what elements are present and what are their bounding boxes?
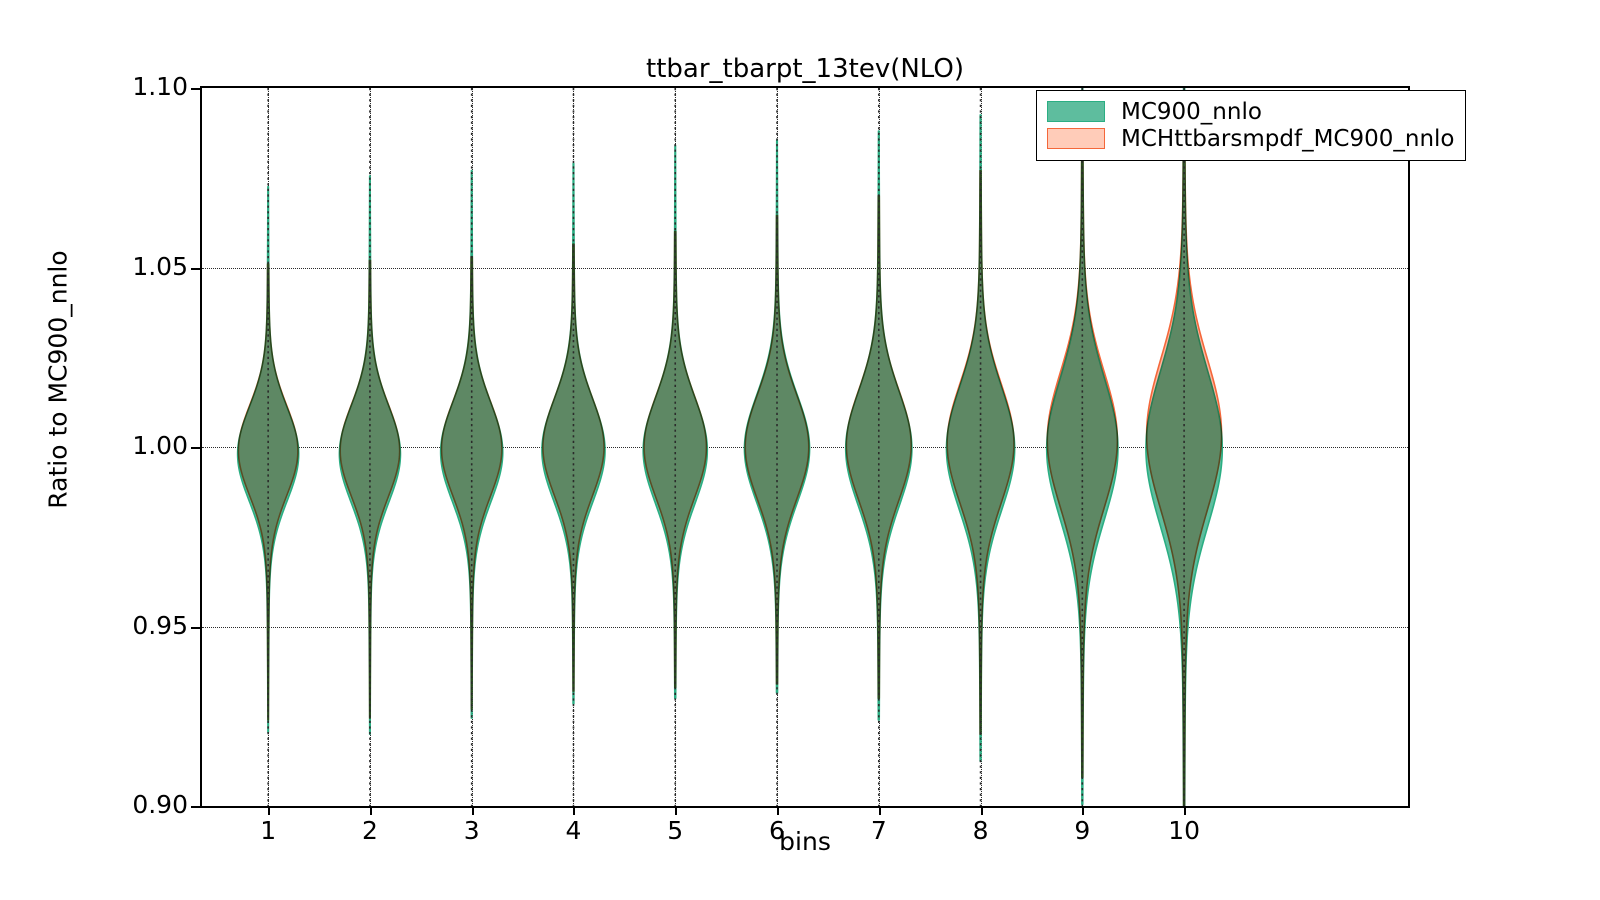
plot-area [200, 86, 1410, 808]
violin-plot-svg [202, 88, 1408, 806]
y-tick-label: 0.95 [132, 611, 188, 640]
y-tick-label: 1.00 [132, 431, 188, 460]
legend-item[interactable]: MC900_nnlo [1047, 98, 1455, 125]
y-tick-mark [191, 447, 200, 449]
legend-swatch-mchttbarsmpdf-mc900-nnlo [1047, 128, 1105, 149]
x-tick-mark [370, 806, 372, 815]
violin-layer [202, 88, 1408, 806]
y-tick-label: 1.05 [132, 252, 188, 281]
y-tick-label: 1.10 [132, 72, 188, 101]
legend-label-mc900-nnlo: MC900_nnlo [1121, 99, 1262, 125]
legend-swatch-mc900-nnlo [1047, 101, 1105, 122]
violin-series-mchttbarsmpdf-mc900-nnlo [238, 95, 1221, 806]
x-tick-mark [1184, 806, 1186, 815]
legend-item[interactable]: MCHttbarsmpdf_MC900_nnlo [1047, 125, 1455, 152]
x-tick-mark [573, 806, 575, 815]
y-tick-mark [191, 627, 200, 629]
x-tick-mark [1082, 806, 1084, 815]
x-tick-mark [472, 806, 474, 815]
x-tick-mark [675, 806, 677, 815]
chart-figure: ttbar_tbarpt_13tev(NLO) 0.900.951.001.05… [0, 0, 1600, 900]
x-tick-mark [981, 806, 983, 815]
y-axis-label: Ratio to MC900_nnlo [44, 60, 73, 700]
y-tick-mark [191, 88, 200, 90]
x-tick-mark [777, 806, 779, 815]
y-tick-label: 0.90 [132, 790, 188, 819]
x-tick-mark [879, 806, 881, 815]
x-axis-label: bins [200, 827, 1410, 856]
legend: MC900_nnlo MCHttbarsmpdf_MC900_nnlo [1036, 90, 1466, 161]
chart-title: ttbar_tbarpt_13tev(NLO) [200, 54, 1410, 84]
legend-label-mchttbarsmpdf-mc900-nnlo: MCHttbarsmpdf_MC900_nnlo [1121, 126, 1455, 152]
violin-bin-4 [543, 244, 604, 691]
x-tick-mark [268, 806, 270, 815]
y-tick-mark [191, 806, 200, 808]
y-tick-mark [191, 268, 200, 270]
